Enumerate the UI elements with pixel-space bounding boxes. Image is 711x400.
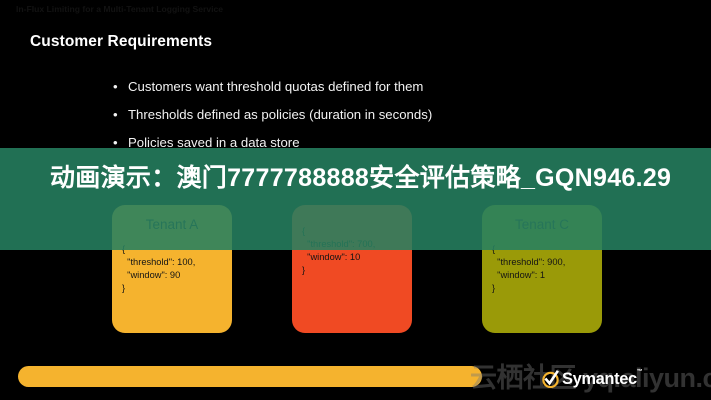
bullet-icon: • — [113, 101, 118, 129]
tenant-policy-json: { "threshold": 900, "window": 1 } — [492, 243, 592, 295]
symantec-logo: Symantec ™ — [541, 368, 643, 390]
requirements-bullet-list: • Customers want threshold quotas define… — [113, 73, 432, 157]
page-title: Customer Requirements — [30, 33, 212, 51]
footer-banner — [18, 366, 482, 387]
list-item: • Thresholds defined as policies (durati… — [113, 101, 432, 129]
slide-canvas: Customer Requirements • Customers want t… — [0, 0, 711, 400]
trademark-symbol: ™ — [637, 369, 643, 375]
bullet-icon: • — [113, 73, 118, 101]
symantec-wordmark: Symantec — [562, 370, 637, 389]
list-item-label: Thresholds defined as policies (duration… — [128, 107, 432, 122]
tenant-policy-json: { "threshold": 100, "window": 90 } — [122, 243, 222, 295]
overlay-banner-text: 动画演示：澳门7777788888安全评估策略_GQN946.29 — [50, 157, 675, 199]
list-item-label: Customers want threshold quotas defined … — [128, 79, 423, 94]
list-item: • Customers want threshold quotas define… — [113, 73, 432, 101]
symantec-checkmark-icon — [541, 370, 560, 389]
footer-banner-label: In-Flux Limiting for a Multi-Tenant Logg… — [16, 4, 223, 14]
